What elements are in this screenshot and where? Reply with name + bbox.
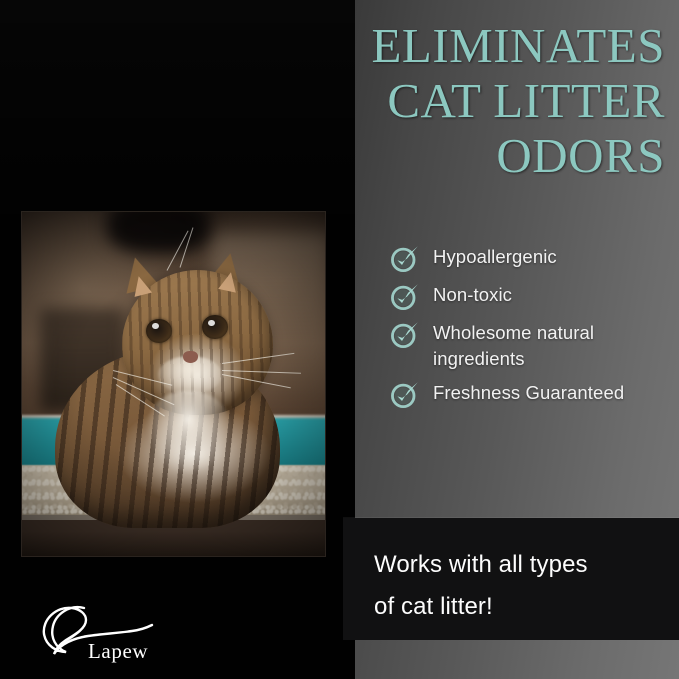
callout-box: Works with all types of cat litter! — [343, 518, 679, 640]
brand-logo: Lapew — [26, 600, 176, 668]
check-circle-icon — [390, 244, 420, 274]
list-item-label: Non-toxic — [433, 281, 512, 308]
check-circle-icon — [390, 380, 420, 410]
check-circle-icon — [390, 320, 420, 350]
list-item: Wholesome natural ingredients — [390, 319, 675, 372]
check-circle-icon — [390, 282, 420, 312]
list-item: Non-toxic — [390, 281, 675, 312]
brand-name: Lapew — [88, 639, 148, 664]
feature-list: Hypoallergenic Non-toxic Wholesome n — [390, 243, 675, 410]
product-infographic: ELIMINATES CAT LITTER ODORS — [0, 0, 679, 679]
photo-vignette — [22, 212, 325, 556]
callout-text: Works with all types of cat litter! — [374, 544, 654, 628]
product-photo — [22, 212, 325, 556]
list-item-label: Hypoallergenic — [433, 243, 557, 270]
list-item-label: Wholesome natural ingredients — [433, 319, 675, 372]
list-item: Hypoallergenic — [390, 243, 675, 274]
list-item-label: Freshness Guaranteed — [433, 379, 624, 406]
page-title: ELIMINATES CAT LITTER ODORS — [290, 18, 665, 183]
list-item: Freshness Guaranteed — [390, 379, 675, 410]
